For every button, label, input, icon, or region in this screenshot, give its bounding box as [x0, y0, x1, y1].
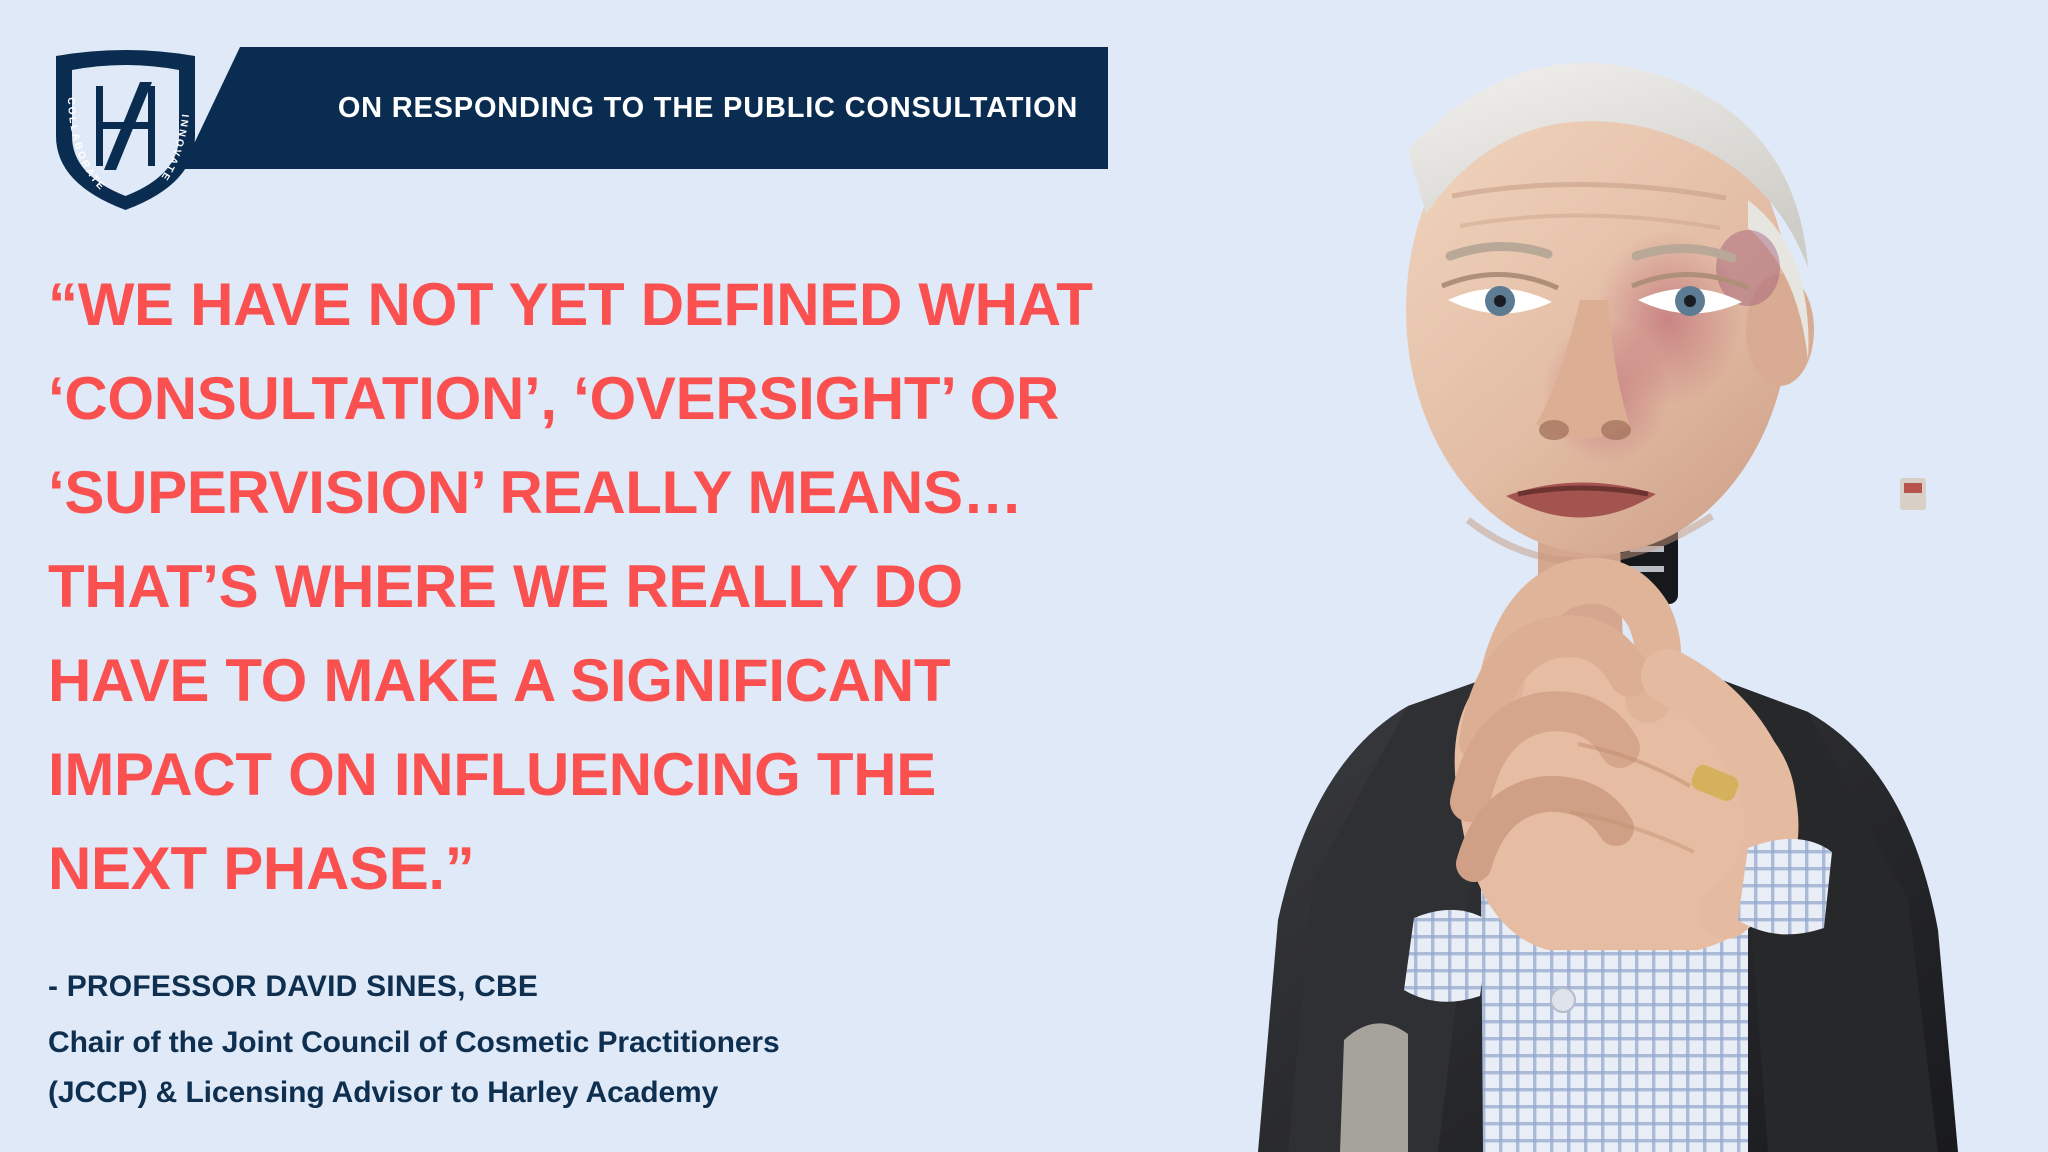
left-nostril — [1539, 420, 1569, 440]
harley-academy-shield-logo: LEAD COLLABORATE INNOVATE — [48, 38, 203, 213]
quote-line: THAT’S WHERE WE REALLY DO — [48, 540, 1168, 634]
skin-blotch — [1716, 230, 1780, 306]
quote-line: NEXT PHASE.” — [48, 822, 1168, 916]
right-cuff — [1738, 839, 1832, 934]
pocket-square — [1340, 1023, 1408, 1152]
attribution: - PROFESSOR DAVID SINES, CBE Chair of th… — [48, 970, 1048, 1118]
lapel-pin-detail — [1904, 483, 1922, 493]
quote-line: ‘CONSULTATION’, ‘OVERSIGHT’ OR — [48, 352, 1168, 446]
attribution-name: - PROFESSOR DAVID SINES, CBE — [48, 970, 1048, 1004]
quote-line: HAVE TO MAKE A SIGNIFICANT — [48, 634, 1168, 728]
right-pupil — [1684, 295, 1696, 307]
quote-line: IMPACT ON INFLUENCING THE — [48, 728, 1168, 822]
shirt-button — [1551, 988, 1575, 1012]
attribution-role-line: Chair of the Joint Council of Cosmetic P… — [48, 1018, 1048, 1068]
left-pupil — [1494, 295, 1506, 307]
attribution-role-line: (JCCP) & Licensing Advisor to Harley Aca… — [48, 1068, 1048, 1118]
banner-title: ON RESPONDING TO THE PUBLIC CONSULTATION — [338, 92, 1078, 125]
left-cuff — [1404, 910, 1490, 1002]
speaker-portrait-illustration — [1108, 0, 2048, 1152]
right-nostril — [1601, 420, 1631, 440]
quote-line: “WE HAVE NOT YET DEFINED WHAT — [48, 258, 1168, 352]
pull-quote: “WE HAVE NOT YET DEFINED WHAT ‘CONSULTAT… — [48, 258, 1168, 916]
lapel-pin — [1900, 478, 1926, 510]
quote-line: ‘SUPERVISION’ REALLY MEANS… — [48, 446, 1168, 540]
speaker-photo — [1108, 0, 2048, 1152]
